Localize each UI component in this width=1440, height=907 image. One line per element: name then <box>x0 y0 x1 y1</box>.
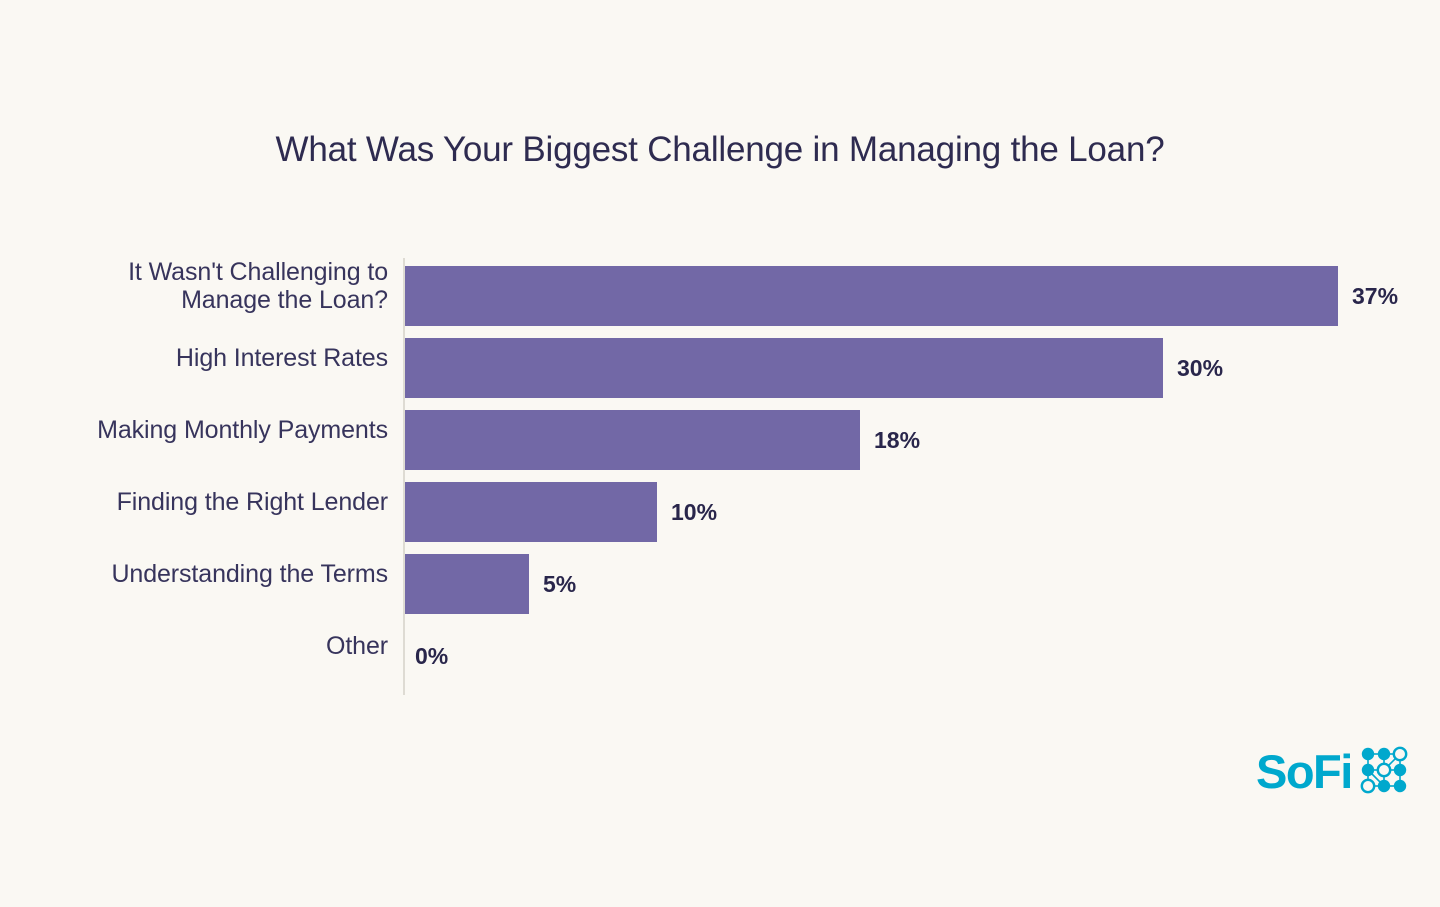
category-label: Understanding the Terms <box>0 538 388 610</box>
bar-row: Other 0% <box>0 610 1440 682</box>
bar-rect[interactable] <box>405 410 860 470</box>
category-label-line1: Making Monthly Payments <box>97 416 388 444</box>
category-label: It Wasn't Challenging to Manage the Loan… <box>0 250 388 322</box>
bar-row: Making Monthly Payments 18% <box>0 394 1440 466</box>
bar-row: High Interest Rates 30% <box>0 322 1440 394</box>
category-label: Making Monthly Payments <box>0 394 388 466</box>
bar-value-label: 5% <box>543 571 576 598</box>
bar-rect[interactable] <box>405 338 1163 398</box>
bar-value-label: 30% <box>1177 355 1223 382</box>
category-label: High Interest Rates <box>0 322 388 394</box>
bar-group: 18% <box>405 410 920 470</box>
plot-area: It Wasn't Challenging to Manage the Loan… <box>0 250 1440 695</box>
chart-title: What Was Your Biggest Challenge in Manag… <box>0 130 1440 170</box>
bar-value-label: 0% <box>415 643 448 670</box>
category-label-line2: Manage the Loan? <box>128 286 388 314</box>
bar-row: It Wasn't Challenging to Manage the Loan… <box>0 250 1440 322</box>
bar-rect[interactable] <box>405 554 529 614</box>
bar-group: 10% <box>405 482 717 542</box>
category-label: Finding the Right Lender <box>0 466 388 538</box>
category-label-line1: High Interest Rates <box>176 344 388 372</box>
bar-chart-figure: What Was Your Biggest Challenge in Manag… <box>0 0 1440 907</box>
bar-rect[interactable] <box>405 266 1338 326</box>
bar-group: 5% <box>405 554 576 614</box>
bar-group: 0% <box>405 626 448 686</box>
sofi-wordmark: SoFi <box>1256 748 1352 795</box>
category-label-line1: Other <box>326 632 388 660</box>
category-label-line1: It Wasn't Challenging to <box>128 258 388 286</box>
category-label-line1: Understanding the Terms <box>111 560 388 588</box>
bar-value-label: 37% <box>1352 283 1398 310</box>
bar-value-label: 18% <box>874 427 920 454</box>
bar-group: 37% <box>405 266 1398 326</box>
bar-value-label: 10% <box>671 499 717 526</box>
sofi-dot-grid-icon <box>1359 745 1409 800</box>
category-label-line1: Finding the Right Lender <box>117 488 388 516</box>
category-label: Other <box>0 610 388 682</box>
bar-group: 30% <box>405 338 1223 398</box>
sofi-logo: SoFi <box>1256 742 1428 800</box>
bar-row: Understanding the Terms 5% <box>0 538 1440 610</box>
bar-rect[interactable] <box>405 482 657 542</box>
bar-row: Finding the Right Lender 10% <box>0 466 1440 538</box>
